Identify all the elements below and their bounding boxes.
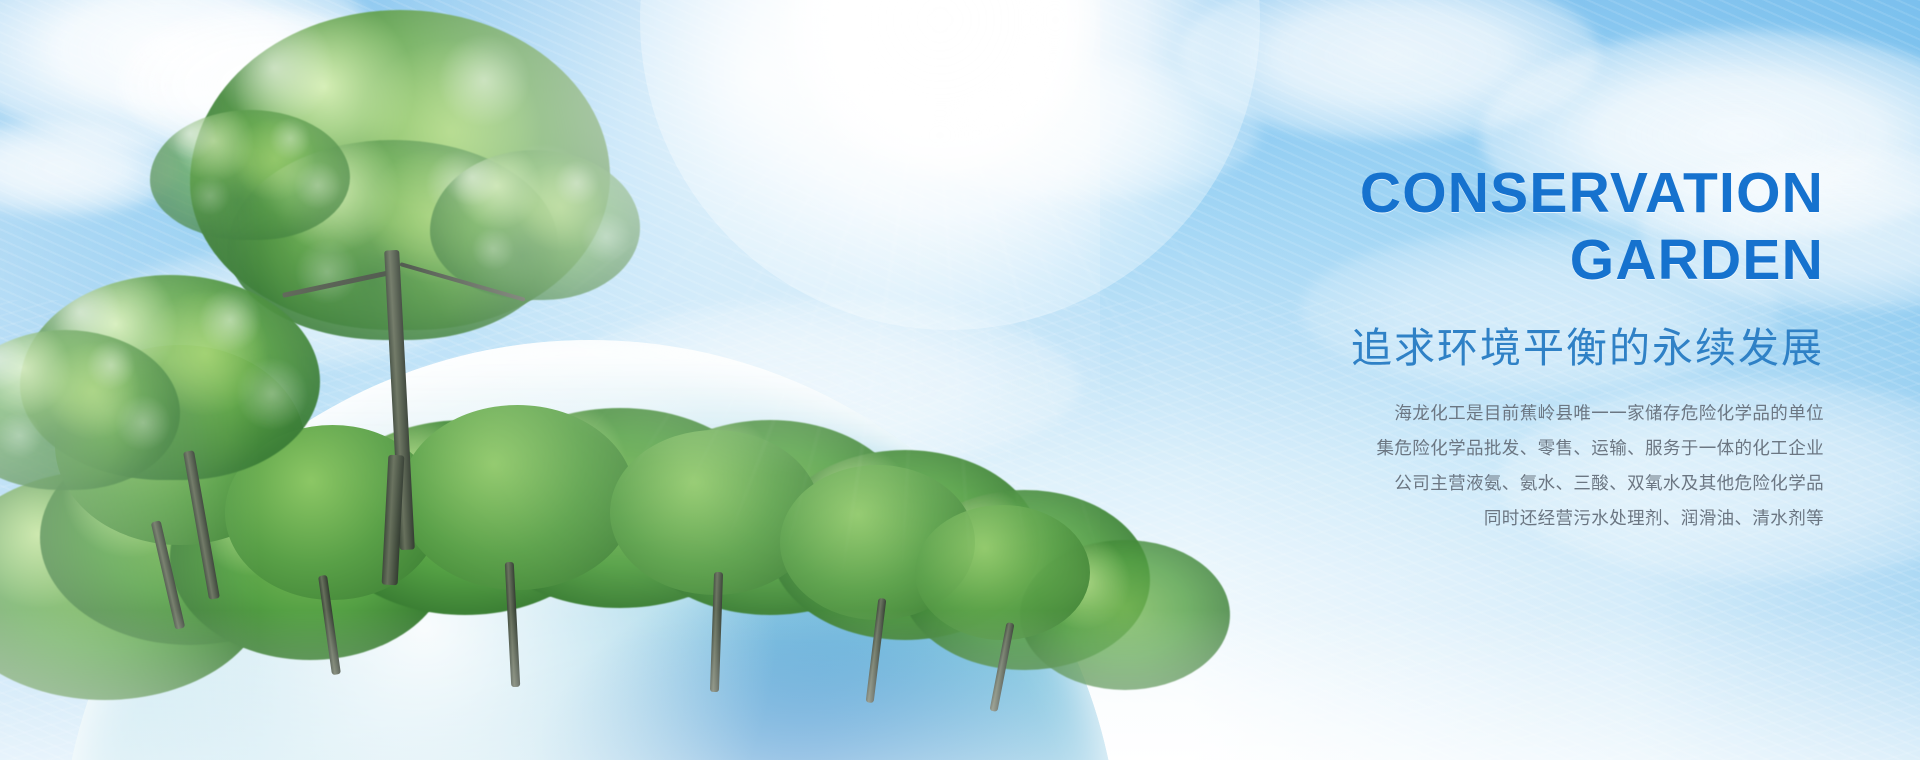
- tagline: 追求环境平衡的永续发展: [1164, 323, 1824, 374]
- description-line: 公司主营液氨、氨水、三酸、双氧水及其他危险化学品: [1164, 466, 1824, 501]
- description-line: 集危险化学品批发、零售、运输、服务于一体的化工企业: [1164, 431, 1824, 466]
- headline-line-2: GARDEN: [1164, 227, 1824, 294]
- conservation-garden-hero-banner: CONSERVATION GARDEN 追求环境平衡的永续发展 海龙化工是目前蕉…: [0, 0, 1920, 760]
- description-line: 同时还经营污水处理剂、润滑油、清水剂等: [1164, 501, 1824, 536]
- headline: CONSERVATION GARDEN: [1164, 160, 1824, 295]
- hero-text-block: CONSERVATION GARDEN 追求环境平衡的永续发展 海龙化工是目前蕉…: [1164, 160, 1824, 536]
- description: 海龙化工是目前蕉岭县唯一一家储存危险化学品的单位 集危险化学品批发、零售、运输、…: [1164, 396, 1824, 536]
- headline-line-1: CONSERVATION: [1360, 161, 1824, 225]
- description-line: 海龙化工是目前蕉岭县唯一一家储存危险化学品的单位: [1164, 396, 1824, 431]
